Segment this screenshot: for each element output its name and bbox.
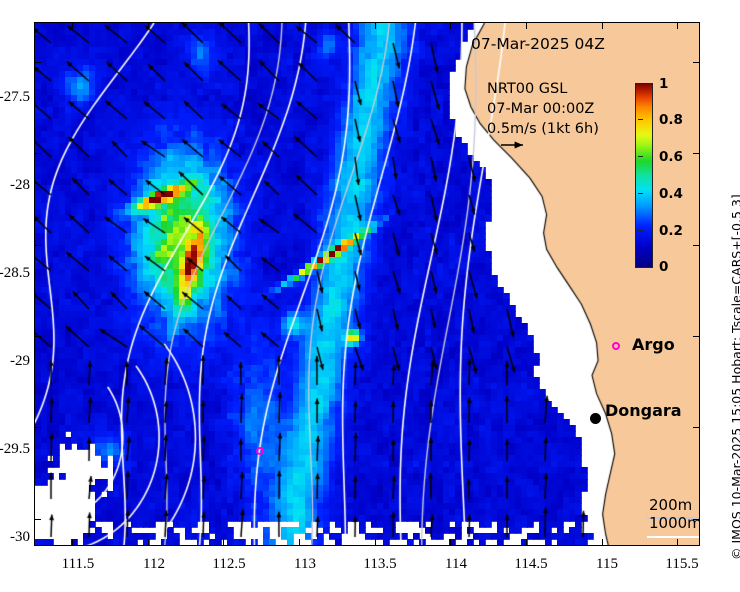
colorbar-tick-0p8: 0.8: [659, 112, 683, 128]
xtick-label-7: 115: [572, 556, 642, 573]
colorbar-tick-0p4: 0.4: [659, 186, 683, 202]
xtick-mark: [299, 22, 300, 29]
argo-float-marker-icon: [256, 447, 264, 455]
xtick-label-4: 113.5: [345, 556, 415, 573]
colorbar-title: std dev of 4hr SST comp: [698, 76, 700, 268]
ytick-mark: [34, 62, 41, 63]
sst-map-figure: 07-Mar-2025 04Z NRT00 GSL 07-Mar 00:00Z …: [0, 0, 740, 592]
xtick-mark: [677, 22, 678, 29]
xtick-mark: [148, 539, 149, 546]
xtick-label-1: 112: [119, 556, 189, 573]
current-time-label: 07-Mar 00:00Z: [487, 101, 594, 117]
xtick-mark: [375, 22, 376, 29]
current-source-label: NRT00 GSL: [487, 81, 567, 97]
xtick-mark: [72, 22, 73, 29]
colorbar-tick-0p6: 0.6: [659, 149, 683, 165]
xtick-mark: [677, 539, 678, 546]
xtick-label-5: 114: [421, 556, 491, 573]
ytick-mark: [34, 336, 41, 337]
colorbar-tick-1: 1: [659, 76, 668, 92]
map-plot-area: 07-Mar-2025 04Z NRT00 GSL 07-Mar 00:00Z …: [34, 22, 700, 546]
ytick-mark: [693, 519, 700, 520]
ytick-label-2: -28.5: [0, 265, 30, 282]
xtick-mark: [148, 22, 149, 29]
depth-key-200m-label: 200m: [649, 496, 692, 514]
xtick-mark: [602, 22, 603, 29]
ytick-label-5: -30: [0, 529, 30, 546]
xtick-mark: [450, 539, 451, 546]
argo-legend-label: Argo: [632, 335, 675, 354]
credit-text: © IMOS 10-Mar-2025 15:05 Hobart; Tscale=…: [729, 194, 740, 560]
xtick-mark: [299, 539, 300, 546]
ytick-mark: [34, 427, 41, 428]
xtick-label-2: 112.5: [194, 556, 264, 573]
ytick-mark: [34, 245, 41, 246]
ytick-label-4: -29.5: [0, 441, 30, 458]
dongara-city-marker-icon: [590, 413, 601, 424]
ytick-label-3: -29: [0, 353, 30, 370]
map-date-label: 07-Mar-2025 04Z: [471, 35, 605, 53]
xtick-mark: [526, 22, 527, 29]
colorbar-gradient: [635, 83, 653, 268]
depth-key-1000m-label: 1000m: [649, 514, 700, 532]
ytick-mark: [693, 336, 700, 337]
current-scale-label: 0.5m/s (1kt 6h): [487, 121, 599, 137]
xtick-mark: [72, 539, 73, 546]
ytick-mark: [34, 519, 41, 520]
overlay-contours-vectors: [35, 23, 700, 546]
ytick-mark: [34, 153, 41, 154]
xtick-mark: [450, 22, 451, 29]
colorbar-tick-0: 0: [659, 259, 668, 275]
ytick-mark: [693, 153, 700, 154]
xtick-label-0: 111.5: [43, 556, 113, 573]
xtick-mark: [602, 539, 603, 546]
ytick-mark: [693, 427, 700, 428]
xtick-mark: [526, 539, 527, 546]
ytick-label-0: -27.5: [0, 89, 30, 106]
argo-legend-marker-icon: [612, 342, 620, 350]
xtick-mark: [223, 539, 224, 546]
xtick-label-3: 113: [270, 556, 340, 573]
xtick-mark: [223, 22, 224, 29]
dongara-city-label: Dongara: [605, 401, 682, 420]
ytick-mark: [693, 245, 700, 246]
depth-key-1000m-line: [647, 536, 700, 538]
colorbar-tick-0p2: 0.2: [659, 223, 683, 239]
xtick-label-6: 114.5: [496, 556, 566, 573]
xtick-mark: [375, 539, 376, 546]
ytick-mark: [693, 62, 700, 63]
ytick-label-1: -28: [0, 177, 30, 194]
xtick-label-8: 115.5: [647, 556, 717, 573]
